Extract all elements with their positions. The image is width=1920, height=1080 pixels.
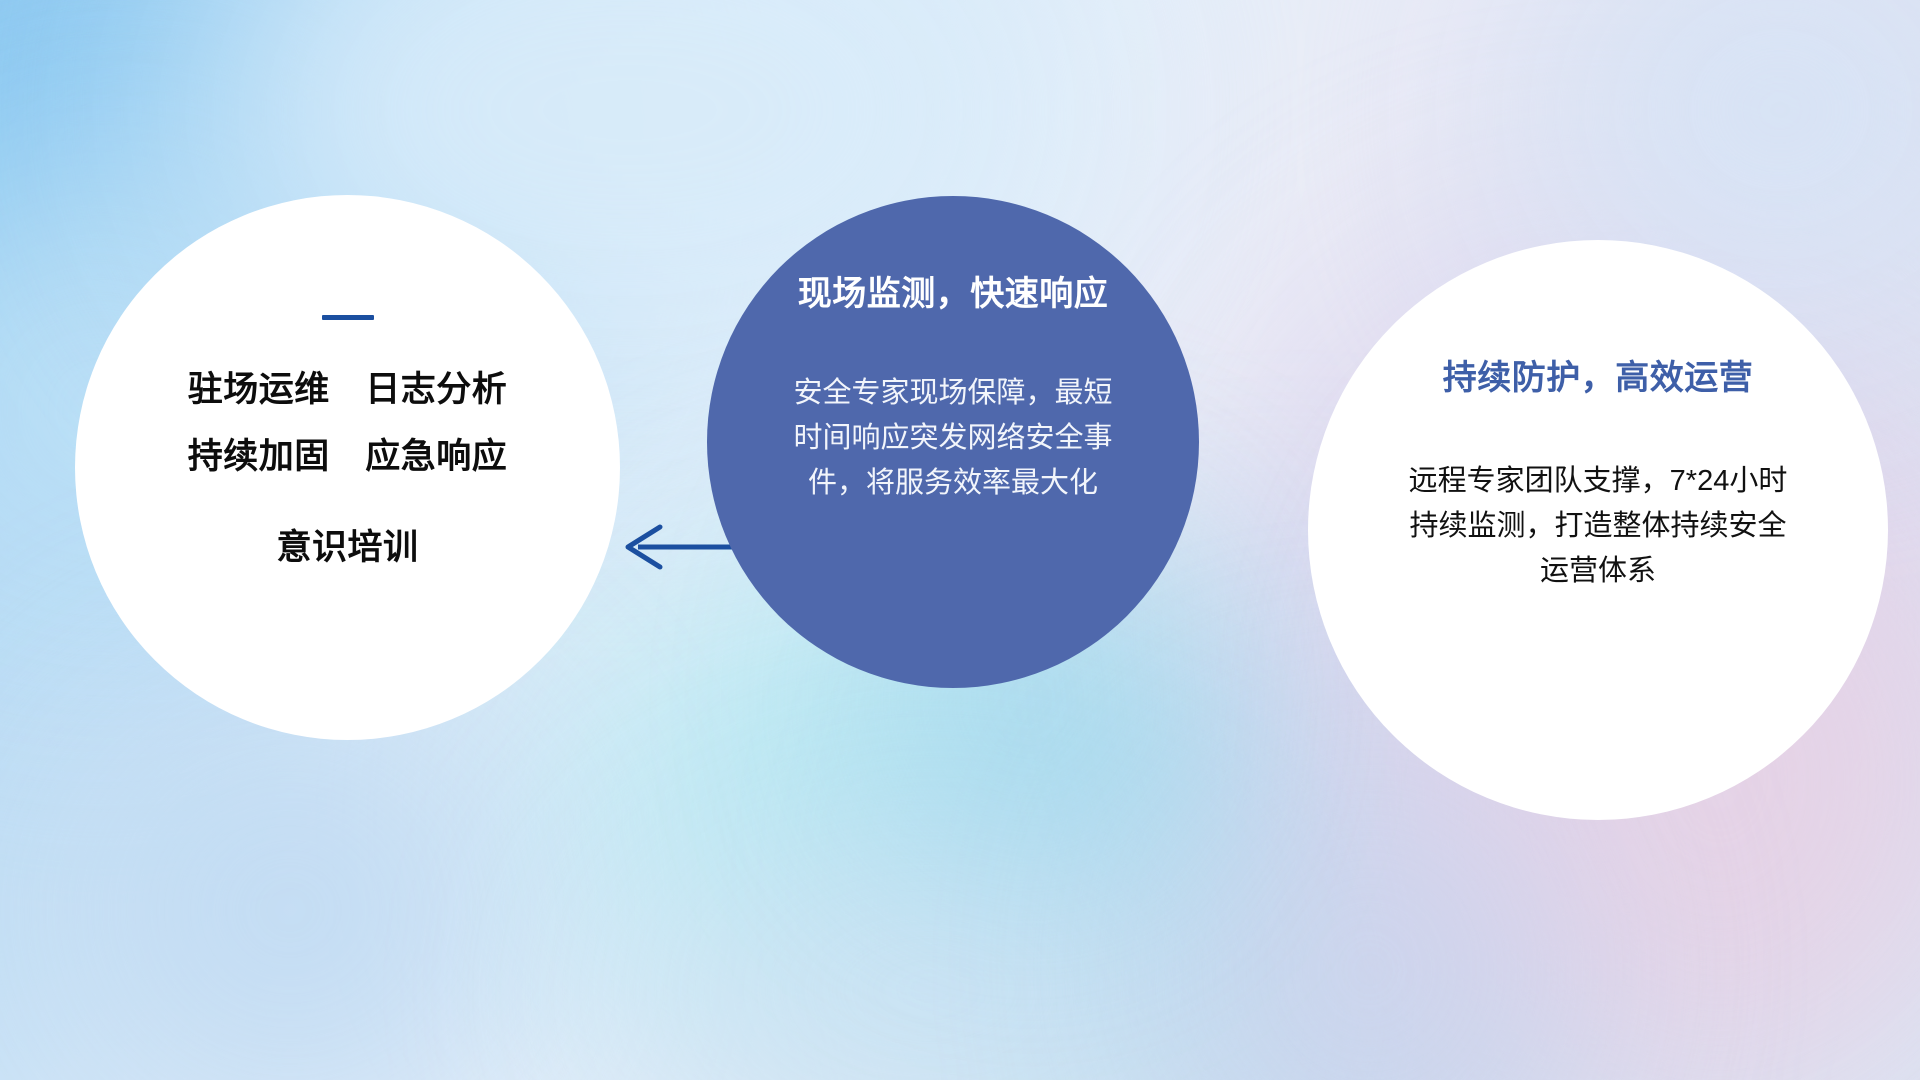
divider-dash-icon [322,315,374,320]
remote-title: 持续防护，高效运营 [1443,360,1754,397]
service-circle-onsite[interactable]: 现场监测，快速响应 安全专家现场保障，最短时间响应突发网络安全事件，将服务效率最… [707,196,1199,688]
capability-line-3: 意识培训 [276,530,418,565]
capability-circle-left[interactable]: 驻场运维 日志分析 持续加固 应急响应 意识培训 [75,195,620,740]
capability-line-1: 驻场运维 日志分析 [188,372,508,407]
remote-description: 远程专家团队支撑，7*24小时持续监测，打造整体持续安全运营体系 [1398,459,1798,594]
service-circle-remote[interactable]: 持续防护，高效运营 远程专家团队支撑，7*24小时持续监测，打造整体持续安全运营… [1308,240,1888,820]
capability-line-2: 持续加固 应急响应 [188,439,508,474]
onsite-description: 安全专家现场保障，最短时间响应突发网络安全事件，将服务效率最大化 [788,371,1118,506]
onsite-title: 现场监测，快速响应 [798,276,1109,313]
